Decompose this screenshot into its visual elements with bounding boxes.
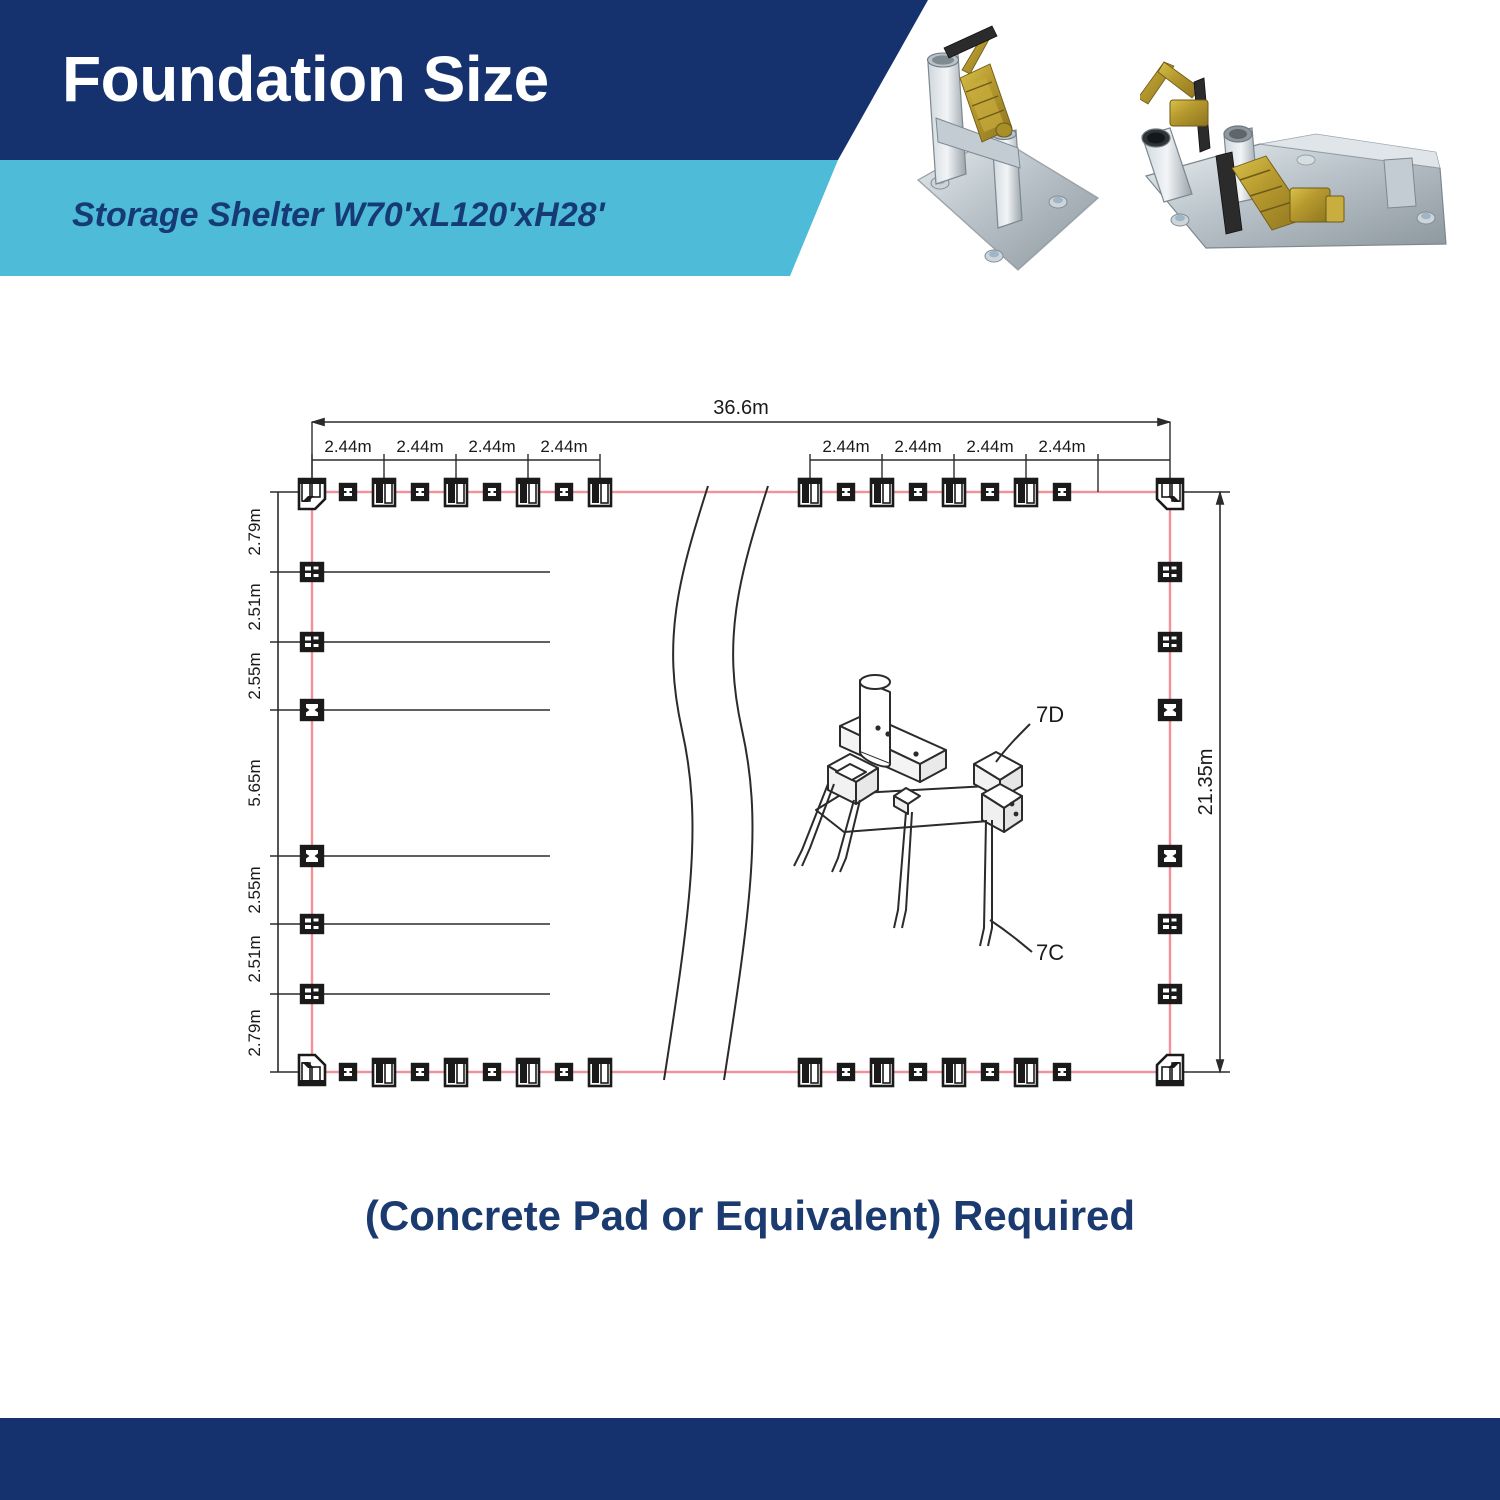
dim-top-right-2: 2.44m — [894, 437, 941, 456]
photo-base-plate-ratchet-angle — [1140, 48, 1470, 278]
dim-left-3: 2.55m — [245, 652, 264, 699]
dim-top-right-4: 2.44m — [1038, 437, 1085, 456]
side-bracket — [1384, 158, 1416, 208]
overall-width-label: 36.6m — [713, 397, 769, 419]
dim-left-2: 2.51m — [245, 583, 264, 630]
page-title: Foundation Size — [62, 42, 822, 116]
left-dimension-chain: 2.79m 2.51m 2.55m 5.65m 2.55m 2.51m 2.79… — [245, 492, 550, 1072]
main-post-socket — [928, 53, 967, 184]
dim-top-right-1: 2.44m — [822, 437, 869, 456]
top-edge-anchors — [299, 479, 1183, 509]
callout-label-7d: 7D — [1036, 702, 1064, 727]
dim-top-left-4: 2.44m — [540, 437, 587, 456]
bottom-edge-anchors — [299, 1055, 1183, 1086]
dim-left-5: 2.55m — [245, 866, 264, 913]
callout-7d: 7D — [996, 702, 1064, 762]
dim-left-7: 2.79m — [245, 1009, 264, 1056]
dim-left-1: 2.79m — [245, 508, 264, 555]
anchor-detail-illustration — [794, 675, 1022, 946]
callout-label-7c: 7C — [1036, 940, 1064, 965]
photo-base-plate-ratchet-front — [900, 8, 1115, 298]
footer-band — [0, 1418, 1500, 1500]
break-lines — [664, 486, 768, 1080]
dim-left-4: 5.65m — [245, 759, 264, 806]
dim-top-left-2: 2.44m — [396, 437, 443, 456]
foundation-plan-drawing: 36.6m 2.44m 2.44m 2.44m 2.44m 2.44m — [230, 380, 1290, 1140]
dim-top-left-1: 2.44m — [324, 437, 371, 456]
dim-top-right-3: 2.44m — [966, 437, 1013, 456]
callout-7c: 7C — [990, 920, 1064, 965]
overall-depth-label: 21.35m — [1195, 749, 1217, 816]
page-subtitle: Storage Shelter W70'xL120'xH28' — [72, 196, 832, 235]
dim-top-left-3: 2.44m — [468, 437, 515, 456]
dim-left-6: 2.51m — [245, 935, 264, 982]
caption-text: (Concrete Pad or Equivalent) Required — [0, 1192, 1500, 1240]
